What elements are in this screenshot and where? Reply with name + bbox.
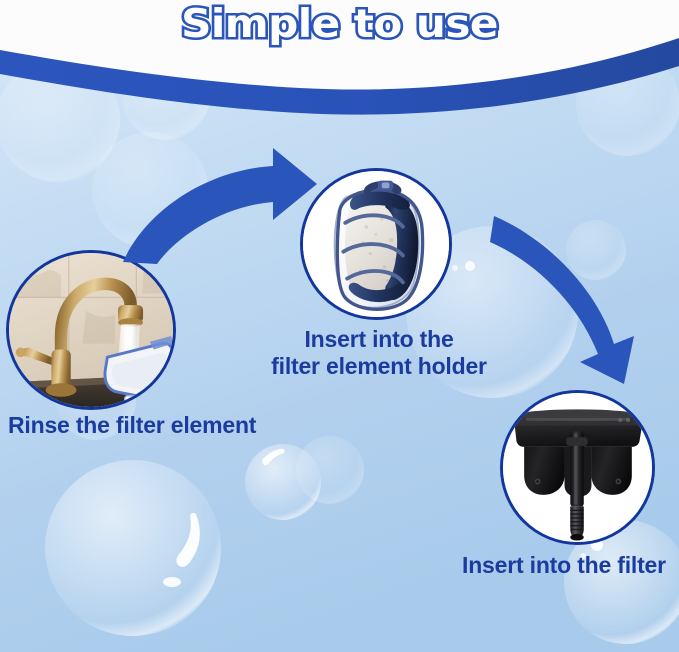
black-aquarium-filter-photo <box>503 393 652 542</box>
step-1-photo-circle <box>6 250 176 410</box>
step-3-photo-circle <box>500 390 655 545</box>
step-2-photo-circle <box>300 168 452 320</box>
step-2-caption: Insert into the filter element holder <box>256 326 502 380</box>
step-3-caption: Insert into the filter <box>462 552 666 579</box>
step-1-caption: Rinse the filter element <box>8 412 256 439</box>
faucet-rinsing-filter-element-photo <box>9 253 173 407</box>
step-2-caption-line1: Insert into the <box>256 326 502 353</box>
filter-element-holder-photo <box>303 171 449 317</box>
step-2-caption-line2: filter element holder <box>256 353 502 380</box>
page-title: Simple to use <box>0 2 679 47</box>
infographic-canvas: Simple to use <box>0 0 679 652</box>
